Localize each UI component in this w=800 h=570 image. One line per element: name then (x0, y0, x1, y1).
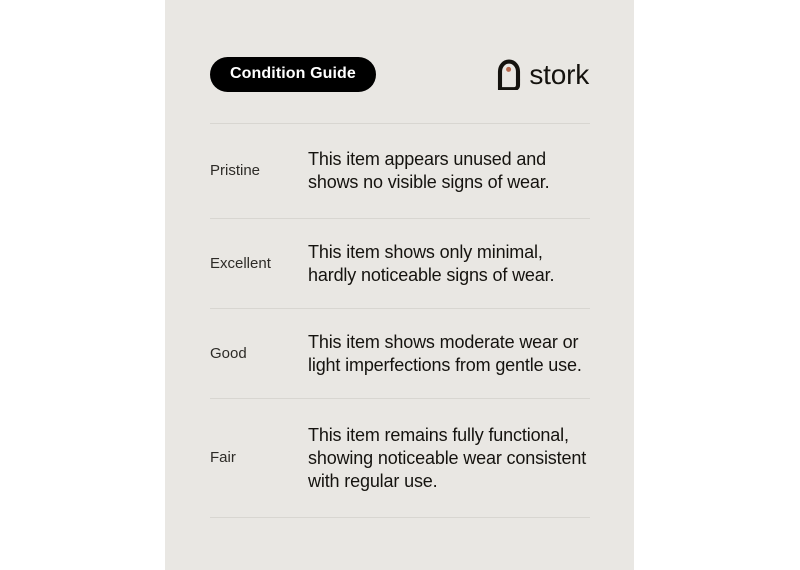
condition-description: This item shows only minimal, hardly not… (308, 241, 590, 287)
table-row: Good This item shows moderate wear or li… (210, 309, 590, 398)
stork-wordmark: stork (529, 61, 589, 89)
condition-table: Pristine This item appears unused and sh… (210, 123, 590, 518)
condition-description: This item shows moderate wear or light i… (308, 331, 590, 377)
table-row: Excellent This item shows only minimal, … (210, 219, 590, 308)
condition-label: Excellent (210, 254, 308, 274)
condition-label: Good (210, 344, 308, 364)
table-divider-bottom (210, 517, 590, 518)
stork-arch-mark-icon (496, 58, 522, 90)
condition-label: Pristine (210, 161, 308, 181)
table-row: Fair This item remains fully functional,… (210, 399, 590, 517)
stork-logo: stork (496, 58, 589, 90)
condition-label: Fair (210, 448, 308, 468)
condition-description: This item remains fully functional, show… (308, 424, 590, 493)
table-row: Pristine This item appears unused and sh… (210, 124, 590, 218)
condition-guide-card: Condition Guide stork Pristine This item… (165, 0, 634, 570)
condition-description: This item appears unused and shows no vi… (308, 148, 590, 194)
page-root: Condition Guide stork Pristine This item… (0, 0, 800, 570)
card-header: Condition Guide stork (210, 56, 590, 92)
condition-guide-badge: Condition Guide (210, 57, 376, 92)
